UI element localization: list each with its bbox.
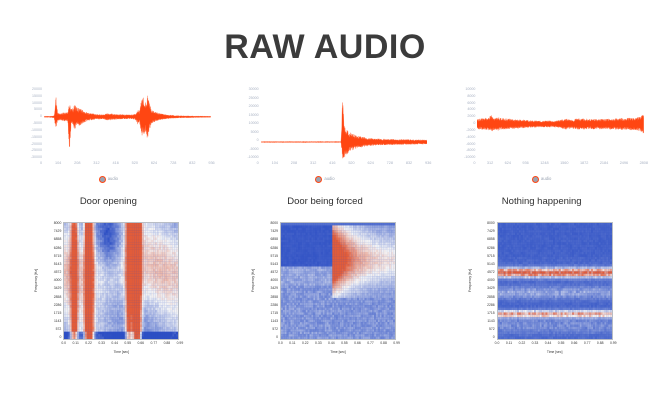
x-tick-label: 0.88 (164, 342, 171, 350)
waveform-panel-2: 1000080006000400020000-2000-4000-6000-80… (433, 86, 650, 186)
y-tick-label: 6286 (270, 247, 278, 250)
y-tick-label: 572 (489, 328, 495, 331)
y-tick-label: 6000 (467, 102, 475, 106)
x-tick-label: 832 (189, 162, 195, 170)
y-tick-label: 3429 (270, 287, 278, 290)
x-tick-label: 208 (291, 162, 297, 170)
y-tick-label: 4000 (467, 108, 475, 112)
x-tick-label: 0.77 (584, 342, 591, 350)
waveform-plot-2 (477, 88, 644, 160)
y-tick-label: -2000 (466, 129, 475, 133)
spectrogram-x-ticks-1: 0.00.110.220.330.440.550.660.770.880.99 (278, 342, 400, 350)
x-tick-label: 0 (40, 162, 42, 170)
y-tick-label: -6000 (466, 143, 475, 147)
y-tick-label: 4572 (270, 271, 278, 274)
y-tick-label: -5000 (249, 148, 258, 152)
spectrogram-y-ticks-0: 8000742968586286571551434572400034292858… (39, 222, 61, 340)
x-tick-label: 0 (473, 162, 475, 170)
y-tick-label: -10000 (31, 129, 42, 133)
y-tick-label: 6858 (487, 238, 495, 241)
y-tick-label: 5143 (270, 263, 278, 266)
y-tick-label: 5715 (54, 255, 62, 258)
y-tick-label: 6858 (270, 238, 278, 241)
spectrogram-x-ticks-2: 0.00.110.220.330.440.550.660.770.880.99 (495, 342, 617, 350)
panel-caption: Door being forced (217, 193, 434, 211)
legend-label: audio (108, 177, 118, 181)
waveform-trace (261, 102, 428, 158)
x-tick-label: 728 (387, 162, 393, 170)
x-tick-label: 1560 (560, 162, 568, 170)
page-title: RAW AUDIO (0, 28, 650, 67)
y-tick-label: 5000 (34, 108, 42, 112)
x-tick-label: 0.33 (98, 342, 105, 350)
y-tick-label: 10000 (249, 122, 259, 126)
y-tick-label: 1715 (487, 312, 495, 315)
y-tick-label: -4000 (466, 136, 475, 140)
waveform-y-axis-1: 300002500020000150001000050000-5000-1000… (225, 88, 259, 160)
y-tick-label: 5715 (487, 255, 495, 258)
waveform-x-axis-2: 0312624936124815601872218424962808 (473, 162, 648, 170)
y-tick-label: 15000 (249, 114, 259, 118)
y-tick-label: -10000 (247, 156, 258, 160)
y-tick-label: 1715 (270, 312, 278, 315)
x-tick-label: 312 (310, 162, 316, 170)
y-tick-label: 2286 (487, 304, 495, 307)
y-tick-label: -15000 (31, 136, 42, 140)
x-tick-label: 0.77 (367, 342, 374, 350)
waveform-row: 20000150001000050000-5000-10000-15000-20… (0, 86, 650, 186)
waveform-plot-1 (261, 88, 428, 160)
waveform-x-axis-0: 0104208312416520624728832936 (40, 162, 215, 170)
caption-cell-1: Door being forced (217, 193, 434, 211)
y-tick-label: 2286 (270, 304, 278, 307)
spectrogram-row: Frequency [Hz] 8000742968586286571551434… (0, 222, 650, 372)
caption-cell-0: Door opening (0, 193, 217, 211)
x-tick-label: 624 (151, 162, 157, 170)
waveform-trace (477, 115, 644, 133)
x-tick-label: 520 (348, 162, 354, 170)
y-tick-label: 15000 (32, 95, 42, 99)
y-tick-label: -8000 (466, 149, 475, 153)
x-tick-label: 312 (93, 162, 99, 170)
waveform-svg (44, 88, 211, 160)
y-tick-label: 1143 (271, 320, 278, 323)
y-tick-label: -5000 (33, 122, 42, 126)
waveform-panel-1: 300002500020000150001000050000-5000-1000… (217, 86, 434, 186)
y-tick-label: 2286 (54, 304, 62, 307)
spectrogram-image-1 (280, 222, 396, 340)
y-tick-label: 572 (272, 328, 278, 331)
spectrogram-y-ticks-2: 8000742968586286571551434572400034292858… (473, 222, 495, 340)
y-tick-label: 8000 (467, 95, 475, 99)
x-tick-label: 0.99 (393, 342, 400, 350)
x-tick-label: 0.11 (72, 342, 78, 350)
y-tick-label: 3429 (487, 287, 495, 290)
y-tick-label: 2858 (270, 296, 278, 299)
panel-caption: Door opening (0, 193, 217, 211)
x-tick-label: 0.0 (278, 342, 283, 350)
y-tick-label: 5143 (54, 263, 62, 266)
y-tick-label: 0 (276, 336, 278, 339)
legend-label: audio (324, 177, 334, 181)
y-tick-label: 20000 (249, 105, 259, 109)
y-tick-label: 0 (59, 336, 61, 339)
y-tick-label: 572 (56, 328, 62, 331)
spectrogram-x-axis-label: Time [sec] (280, 351, 396, 359)
x-tick-label: 0.66 (354, 342, 361, 350)
x-tick-label: 208 (74, 162, 80, 170)
x-tick-label: 2184 (600, 162, 608, 170)
y-tick-label: 0 (257, 139, 259, 143)
y-tick-label: 4000 (487, 279, 495, 282)
y-tick-label: 25000 (249, 97, 259, 101)
spectrogram-svg (64, 223, 178, 339)
spectrogram-x-axis-label: Time [sec] (497, 351, 613, 359)
y-tick-label: 5715 (270, 255, 278, 258)
y-tick-label: 4000 (270, 279, 278, 282)
x-tick-label: 520 (132, 162, 138, 170)
y-tick-label: 7429 (270, 230, 278, 233)
waveform-y-axis-0: 20000150001000050000-5000-10000-15000-20… (8, 88, 42, 160)
x-tick-label: 936 (425, 162, 431, 170)
y-tick-label: 7429 (54, 230, 62, 233)
x-tick-label: 0.66 (571, 342, 578, 350)
y-tick-label: 4000 (54, 279, 62, 282)
waveform-plot-0 (44, 88, 211, 160)
x-tick-label: 0.44 (545, 342, 552, 350)
y-tick-label: 30000 (249, 88, 259, 92)
caption-cell-2: Nothing happening (433, 193, 650, 211)
x-tick-label: 416 (112, 162, 118, 170)
spectrogram-panel-0: Frequency [Hz] 8000742968586286571551434… (0, 222, 217, 372)
x-tick-label: 936 (208, 162, 214, 170)
spectrogram-svg (498, 223, 612, 339)
y-tick-label: 6286 (487, 247, 495, 250)
x-tick-label: 0.11 (506, 342, 512, 350)
x-tick-label: 832 (406, 162, 412, 170)
spectrogram-svg (281, 223, 395, 339)
y-tick-label: 5143 (487, 263, 495, 266)
y-tick-label: 8000 (487, 222, 495, 225)
waveform-svg (261, 88, 428, 160)
x-tick-label: 0.0 (495, 342, 500, 350)
y-tick-label: 7429 (487, 230, 495, 233)
x-tick-label: 0 (257, 162, 259, 170)
x-tick-label: 416 (329, 162, 335, 170)
x-tick-label: 1872 (580, 162, 588, 170)
x-tick-label: 0.66 (137, 342, 144, 350)
x-tick-label: 0.11 (289, 342, 295, 350)
x-tick-label: 728 (170, 162, 176, 170)
waveform-panel-0: 20000150001000050000-5000-10000-15000-20… (0, 86, 217, 186)
waveform-legend-1: audio (217, 172, 434, 186)
y-tick-label: 20000 (32, 88, 42, 92)
y-tick-label: 4572 (54, 271, 62, 274)
y-tick-label: 4572 (487, 271, 495, 274)
x-tick-label: 0.77 (151, 342, 158, 350)
y-tick-label: 1143 (54, 320, 61, 323)
x-tick-label: 2808 (640, 162, 648, 170)
x-tick-label: 0.44 (328, 342, 335, 350)
y-tick-label: 0 (40, 115, 42, 119)
waveform-trace (44, 96, 211, 147)
legend-marker-icon (99, 176, 106, 183)
x-tick-label: 0.99 (610, 342, 617, 350)
x-tick-label: 1248 (540, 162, 548, 170)
x-tick-label: 104 (55, 162, 61, 170)
x-tick-label: 624 (367, 162, 373, 170)
x-tick-label: 0.22 (85, 342, 92, 350)
spectrogram-panel-2: Frequency [Hz] 8000742968586286571551434… (433, 222, 650, 372)
x-tick-label: 0.22 (302, 342, 309, 350)
x-tick-label: 312 (487, 162, 493, 170)
x-tick-label: 0.88 (380, 342, 387, 350)
x-tick-label: 0.0 (61, 342, 66, 350)
x-tick-label: 0.55 (341, 342, 348, 350)
x-tick-label: 0.99 (177, 342, 184, 350)
x-tick-label: 936 (522, 162, 528, 170)
y-tick-label: 10000 (465, 88, 475, 92)
spectrogram-image-0 (63, 222, 179, 340)
y-tick-label: 2858 (487, 296, 495, 299)
x-tick-label: 0.55 (124, 342, 131, 350)
x-tick-label: 0.33 (315, 342, 322, 350)
y-tick-label: 8000 (54, 222, 62, 225)
y-tick-label: 3429 (54, 287, 62, 290)
x-tick-label: 2496 (620, 162, 628, 170)
x-tick-label: 624 (505, 162, 511, 170)
spectrogram-y-ticks-1: 8000742968586286571551434572400034292858… (256, 222, 278, 340)
y-tick-label: -10000 (464, 156, 475, 160)
spectrogram-x-ticks-0: 0.00.110.220.330.440.550.660.770.880.99 (61, 342, 183, 350)
y-tick-label: 6858 (54, 238, 62, 241)
spectrogram-image-2 (497, 222, 613, 340)
y-tick-label: -30000 (31, 156, 42, 160)
legend-label: audio (541, 177, 551, 181)
y-tick-label: 5000 (251, 131, 259, 135)
y-tick-label: 8000 (270, 222, 278, 225)
x-tick-label: 0.22 (519, 342, 526, 350)
x-tick-label: 0.33 (532, 342, 539, 350)
waveform-legend-2: audio (433, 172, 650, 186)
panel-caption: Nothing happening (433, 193, 650, 211)
waveform-x-axis-1: 0104208312416520624728832936 (257, 162, 432, 170)
x-tick-label: 0.88 (597, 342, 604, 350)
spectrogram-panel-1: Frequency [Hz] 8000742968586286571551434… (217, 222, 434, 372)
y-tick-label: 0 (493, 336, 495, 339)
waveform-y-axis-2: 1000080006000400020000-2000-4000-6000-80… (441, 88, 475, 160)
y-tick-label: 10000 (32, 102, 42, 106)
y-tick-label: 1143 (487, 320, 494, 323)
x-tick-label: 0.44 (111, 342, 118, 350)
y-tick-label: 6286 (54, 247, 62, 250)
waveform-svg (477, 88, 644, 160)
x-tick-label: 0.55 (558, 342, 565, 350)
x-tick-label: 104 (272, 162, 278, 170)
y-tick-label: -25000 (31, 149, 42, 153)
caption-row: Door opening Door being forced Nothing h… (0, 193, 650, 211)
spectrogram-x-axis-label: Time [sec] (63, 351, 179, 359)
y-tick-label: 2000 (467, 115, 475, 119)
waveform-legend-0: audio (0, 172, 217, 186)
legend-marker-icon (532, 176, 539, 183)
y-tick-label: 0 (473, 122, 475, 126)
legend-marker-icon (315, 176, 322, 183)
y-tick-label: 1715 (54, 312, 62, 315)
y-tick-label: -20000 (31, 143, 42, 147)
y-tick-label: 2858 (54, 296, 62, 299)
